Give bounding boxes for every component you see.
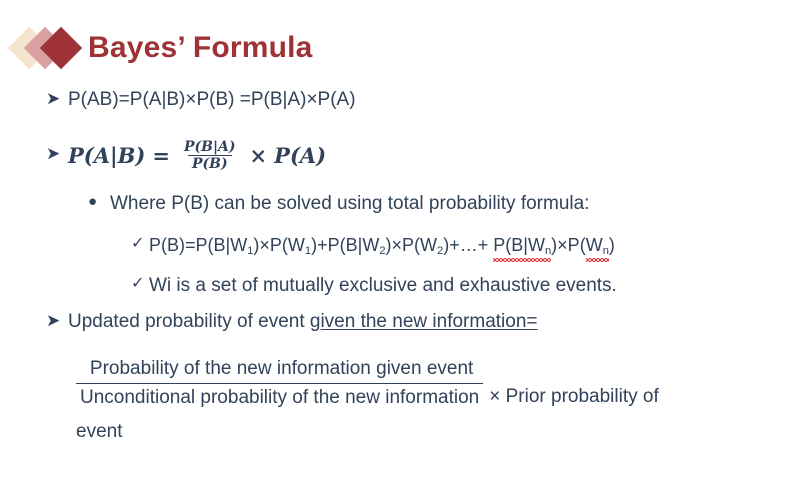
bullet-line-total-probability: ✓ P(B)=P(B|W1)×P(W1)+P(B|W2)×P(W2)+…+ P(…: [131, 234, 615, 259]
identity-equation-text: P(AB)=P(A|B)×P(B) =P(B|A)×P(A): [68, 88, 356, 112]
spellcheck-underlined-term-2: Wn: [586, 234, 609, 259]
tp-times: ×P(: [557, 235, 586, 255]
arrow-bullet-icon: ➤: [46, 140, 68, 167]
formula-equals: =: [152, 145, 170, 166]
bullet-line-updated-probability: ➤ Updated probability of event given the…: [46, 310, 538, 334]
verbal-bayes-fraction: Probability of the new information given…: [76, 356, 659, 410]
dot-bullet-icon: ●: [88, 192, 110, 212]
page-title: Bayes’ Formula: [88, 33, 313, 63]
total-probability-equation: P(B)=P(B|W1)×P(W1)+P(B|W2)×P(W2)+…+ P(B|…: [149, 234, 615, 259]
bayes-formula: P(A|B) = P(B|A) P(B) × P(A): [68, 140, 326, 171]
verbal-fraction-stack: Probability of the new information given…: [76, 356, 483, 410]
tp-part-c: )+P(B|W: [311, 235, 379, 255]
bullet-line-identity: ➤ P(AB)=P(A|B)×P(B) =P(B|A)×P(A): [46, 88, 356, 112]
formula-lhs: P(A|B): [68, 145, 145, 166]
bullet-line-where: ● Where P(B) can be solved using total p…: [88, 192, 589, 216]
formula-numerator: P(B|A): [180, 140, 240, 155]
bullet-line-bayes-formula: ➤ P(A|B) = P(B|A) P(B) × P(A): [46, 140, 326, 171]
verbal-fraction-numerator: Probability of the new information given…: [76, 356, 483, 383]
three-diamonds-icon: [8, 24, 86, 72]
formula-rhs: P(A): [274, 145, 326, 166]
updated-probability-underlined: given the new information=: [310, 311, 538, 332]
tp-part-e: )+…+: [443, 235, 493, 255]
arrow-bullet-icon: ➤: [46, 88, 68, 109]
tp-sub-5: n: [545, 245, 551, 257]
verbal-fraction-denominator: Unconditional probability of the new inf…: [76, 383, 483, 411]
tp-part-d: )×P(W: [386, 235, 438, 255]
updated-probability-plain: Updated probability of event: [68, 311, 310, 332]
tp-part-w: W: [586, 235, 603, 255]
tp-part-b: )×P(W: [253, 235, 305, 255]
tp-part-a: P(B)=P(B|W: [149, 235, 247, 255]
slide-header: Bayes’ Formula: [0, 22, 313, 74]
arrow-bullet-icon: ➤: [46, 310, 68, 331]
wi-definition-text: Wi is a set of mutually exclusive and ex…: [149, 274, 617, 298]
formula-denominator: P(B): [188, 155, 232, 171]
check-bullet-icon: ✓: [131, 274, 149, 294]
verbal-fraction-wrap-word: event: [76, 420, 122, 444]
formula-fraction: P(B|A) P(B): [180, 140, 240, 171]
tp-part-h: ): [609, 235, 615, 255]
spellcheck-underlined-term-1: P(B|Wn: [493, 234, 551, 259]
bullet-line-wi-definition: ✓ Wi is a set of mutually exclusive and …: [131, 274, 617, 298]
where-text: Where P(B) can be solved using total pro…: [110, 192, 589, 216]
verbal-fraction-tail: × Prior probability of: [489, 385, 659, 411]
tp-sub-6: n: [603, 245, 609, 257]
formula-times: ×: [250, 145, 268, 166]
check-bullet-icon: ✓: [131, 234, 149, 254]
tp-part-f: P(B|W: [493, 235, 545, 255]
updated-probability-text: Updated probability of event given the n…: [68, 310, 538, 334]
